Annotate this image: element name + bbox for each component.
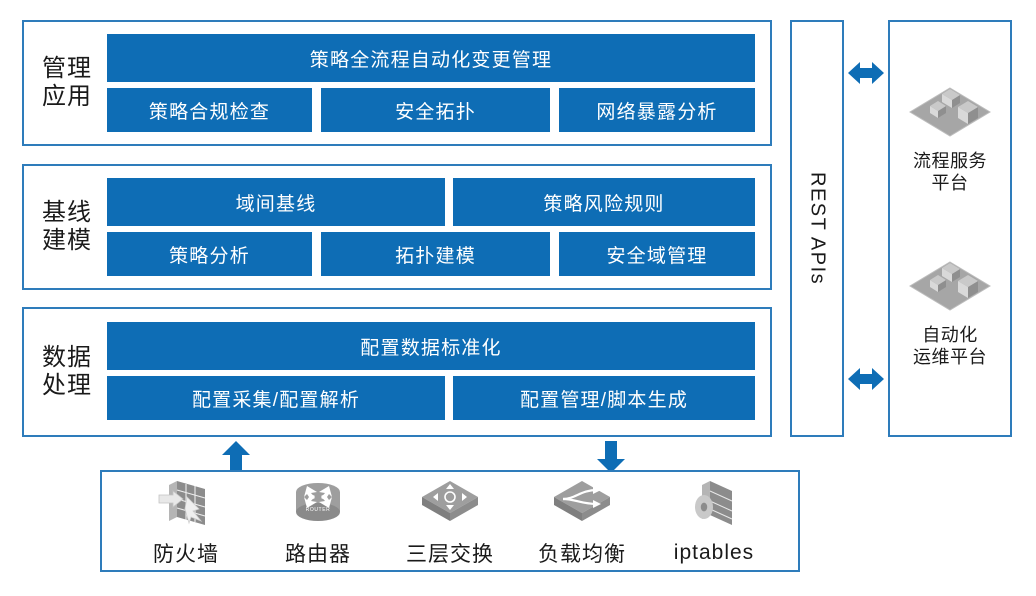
router-icon: ROUTER	[289, 474, 347, 532]
device-layer-box: 防火墙 ROUTER 路由器	[100, 470, 800, 572]
layer-title-line-2: 建模	[42, 227, 92, 255]
bar-inter-domain-baseline[interactable]: 域间基线	[107, 178, 445, 226]
rest-apis-label: REST APIs	[806, 172, 829, 285]
arrow-left-right-icon-bottom	[848, 366, 884, 392]
bar-policy-analysis[interactable]: 策略分析	[107, 232, 312, 276]
device-label-load-balancer: 负载均衡	[538, 538, 626, 568]
bar-security-topology[interactable]: 安全拓扑	[321, 88, 550, 132]
bar-policy-full-process-automation[interactable]: 策略全流程自动化变更管理	[107, 34, 755, 82]
device-label-router: 路由器	[285, 538, 351, 568]
device-router[interactable]: ROUTER 路由器	[254, 474, 382, 568]
layer-title-line-2: 应用	[42, 83, 92, 111]
platform-item-automation-ops[interactable]: 自动化 运维平台	[890, 254, 1010, 368]
platform-caption-process-service: 流程服务 平台	[913, 151, 987, 194]
layer-title-line-2: 处理	[42, 372, 92, 400]
layer-title-management-application: 管理 应用	[24, 22, 110, 144]
layer3-switch-icon	[419, 474, 481, 532]
device-label-firewall: 防火墙	[153, 538, 219, 568]
platform-3d-icon	[908, 80, 992, 147]
layer-baseline-modeling: 基线 建模 域间基线 策略风险规则 策略分析 拓扑建模 安全域管理	[22, 164, 772, 290]
device-label-l3-switch: 三层交换	[406, 538, 494, 568]
platform-caption-automation-ops: 自动化 运维平台	[913, 325, 987, 368]
bar-config-management-script-generation[interactable]: 配置管理/脚本生成	[453, 376, 755, 420]
caption-line-1: 流程服务	[913, 151, 987, 173]
layer-title-data-processing: 数据 处理	[24, 309, 110, 435]
caption-line-1: 自动化	[913, 325, 987, 347]
bar-config-collection-parsing[interactable]: 配置采集/配置解析	[107, 376, 445, 420]
layer-data-processing: 数据 处理 配置数据标准化 配置采集/配置解析 配置管理/脚本生成	[22, 307, 772, 437]
platform-3d-icon	[908, 254, 992, 321]
bar-config-data-standardization[interactable]: 配置数据标准化	[107, 322, 755, 370]
layer-title-line-1: 基线	[42, 199, 92, 227]
layer-title-line-1: 管理	[42, 55, 92, 83]
arrow-up-icon	[221, 441, 251, 473]
platform-panel: 流程服务 平台	[888, 20, 1012, 437]
device-firewall[interactable]: 防火墙	[122, 474, 250, 568]
arrow-left-right-icon-top	[848, 60, 884, 86]
load-balancer-icon	[551, 474, 613, 532]
device-load-balancer[interactable]: 负载均衡	[518, 474, 646, 568]
bar-security-zone-management[interactable]: 安全域管理	[559, 232, 755, 276]
caption-line-2: 平台	[913, 173, 987, 195]
device-l3-switch[interactable]: 三层交换	[386, 474, 514, 568]
platform-item-process-service[interactable]: 流程服务 平台	[890, 80, 1010, 194]
layer-title-baseline-modeling: 基线 建模	[24, 166, 110, 288]
device-label-iptables: iptables	[674, 541, 754, 565]
layer-management-application: 管理 应用 策略全流程自动化变更管理 策略合规检查 安全拓扑 网络暴露分析	[22, 20, 772, 146]
arrow-down-icon	[596, 441, 626, 473]
firewall-icon	[157, 474, 215, 532]
svg-text:ROUTER: ROUTER	[306, 507, 331, 513]
iptables-icon	[688, 477, 740, 535]
bar-policy-risk-rules[interactable]: 策略风险规则	[453, 178, 755, 226]
caption-line-2: 运维平台	[913, 347, 987, 369]
layer-title-line-1: 数据	[42, 344, 92, 372]
bar-policy-compliance-check[interactable]: 策略合规检查	[107, 88, 312, 132]
bar-network-exposure-analysis[interactable]: 网络暴露分析	[559, 88, 755, 132]
bar-topology-modeling[interactable]: 拓扑建模	[321, 232, 550, 276]
architecture-diagram: 管理 应用 策略全流程自动化变更管理 策略合规检查 安全拓扑 网络暴露分析 基线…	[0, 0, 1036, 596]
device-iptables[interactable]: iptables	[650, 477, 778, 565]
rest-apis-panel: REST APIs	[790, 20, 844, 437]
